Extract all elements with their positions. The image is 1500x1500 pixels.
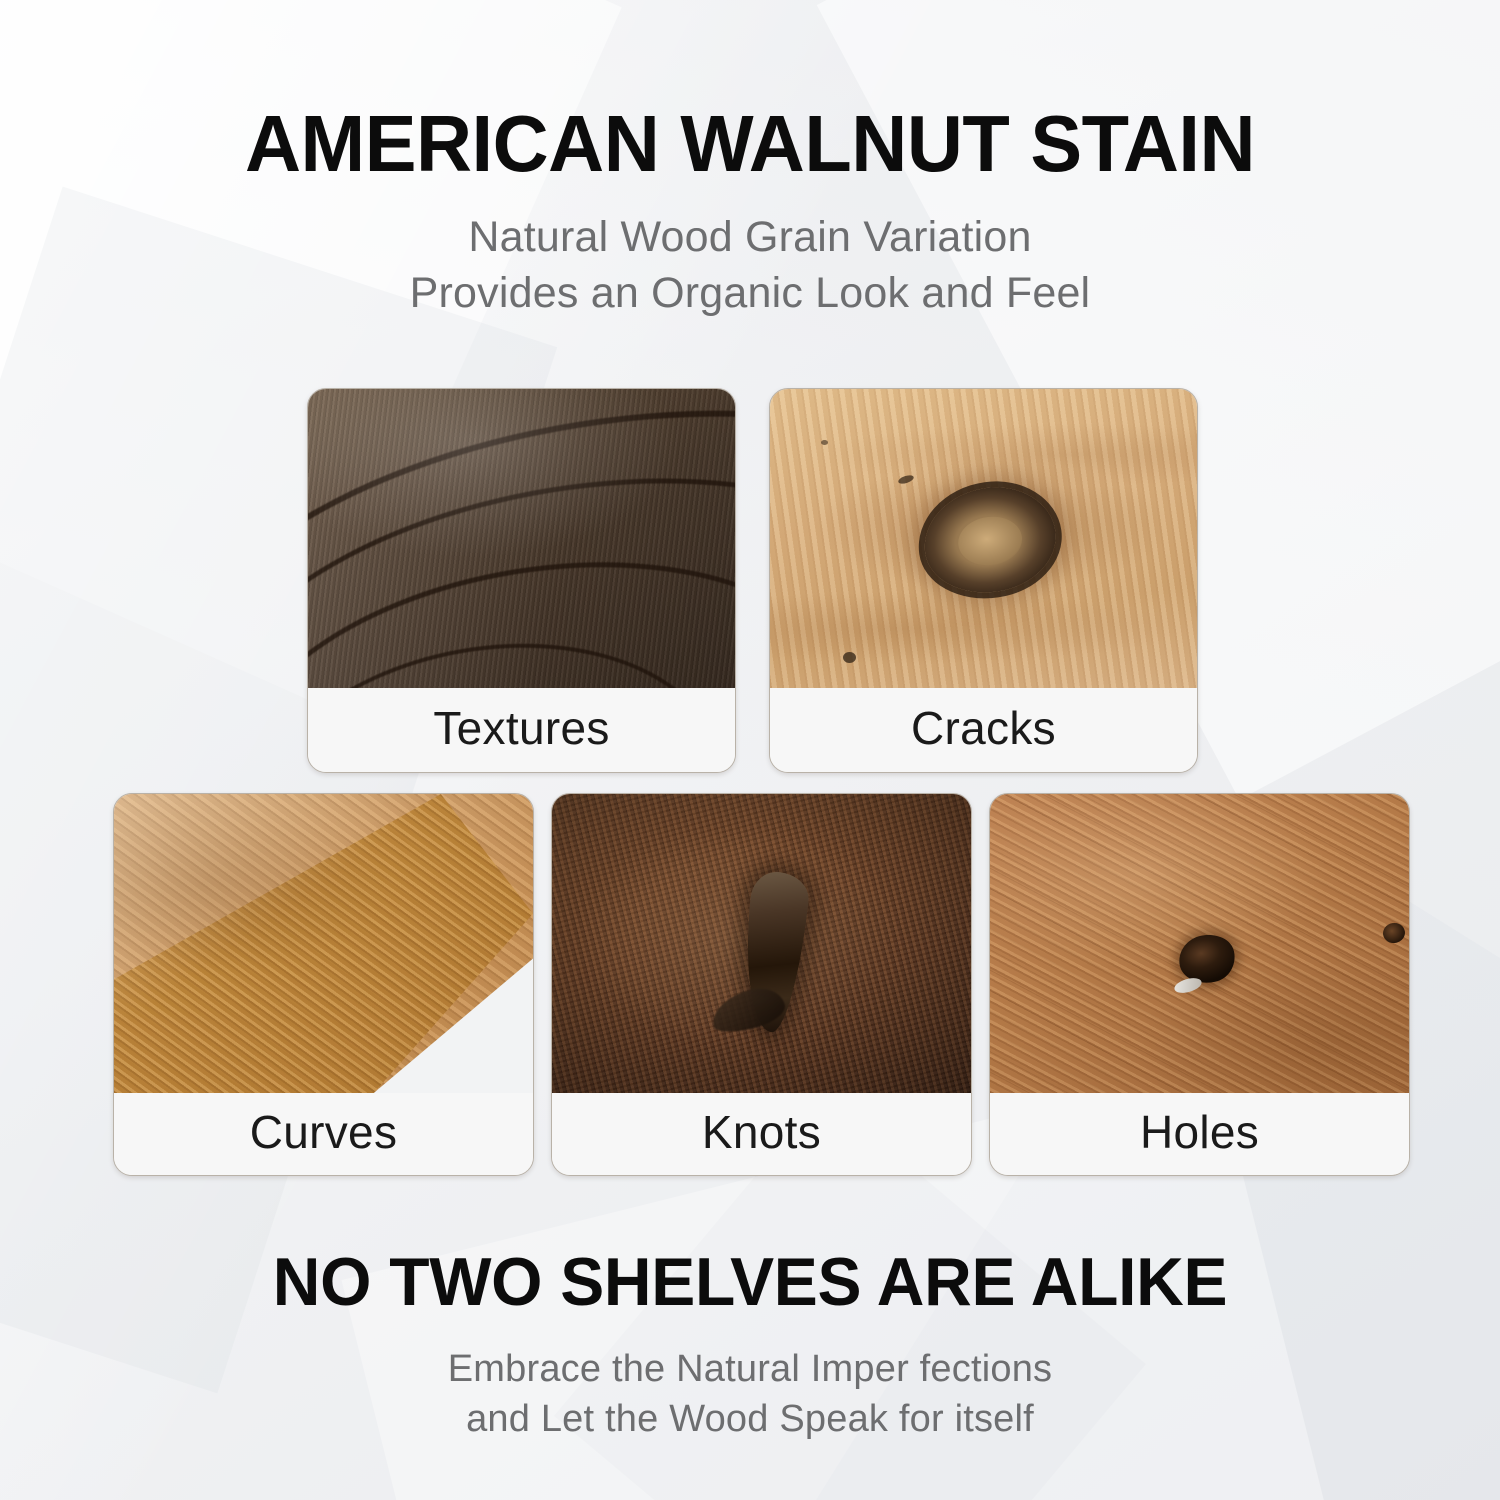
surface-sheen [308,389,735,688]
page-subtitle-line-2: Provides an Organic Look and Feel [0,266,1500,322]
knot-core [955,513,1024,569]
header-block: AMERICAN WALNUT STAIN Natural Wood Grain… [0,104,1500,322]
feature-card-holes[interactable]: Holes [989,793,1410,1176]
infographic-page: AMERICAN WALNUT STAIN Natural Wood Grain… [0,0,1500,1500]
cracks-image [770,389,1197,688]
wood-speck [843,652,856,663]
feature-card-curves[interactable]: Curves [113,793,534,1176]
feature-card-knots[interactable]: Knots [551,793,972,1176]
facet-shape [0,187,557,1394]
knots-image [552,794,971,1093]
feature-card-label: Holes [990,1093,1409,1175]
footer-title: NO TWO SHELVES ARE ALIKE [23,1248,1478,1316]
feature-card-label: Textures [308,688,735,772]
page-subtitle: Natural Wood Grain Variation Provides an… [0,210,1500,322]
page-title: AMERICAN WALNUT STAIN [23,104,1478,184]
feature-card-cracks[interactable]: Cracks [769,388,1198,773]
textures-image [308,389,735,688]
footer-subtitle-line-2: and Let the Wood Speak for itself [0,1394,1500,1444]
footer-block: NO TWO SHELVES ARE ALIKE Embrace the Nat… [0,1248,1500,1444]
curves-image [114,794,533,1093]
page-subtitle-line-1: Natural Wood Grain Variation [0,210,1500,266]
footer-subtitle-line-1: Embrace the Natural Imper fections [0,1344,1500,1394]
feature-card-label: Curves [114,1093,533,1175]
feature-card-label: Knots [552,1093,971,1175]
feature-card-textures[interactable]: Textures [307,388,736,773]
feature-card-label: Cracks [770,688,1197,772]
feature-card-row-bottom: Curves Knots Holes [113,793,1410,1176]
footer-subtitle: Embrace the Natural Imper fections and L… [0,1344,1500,1444]
wood-speck [821,440,828,445]
feature-card-row-top: Textures Cracks [307,388,1198,773]
holes-image [990,794,1409,1093]
